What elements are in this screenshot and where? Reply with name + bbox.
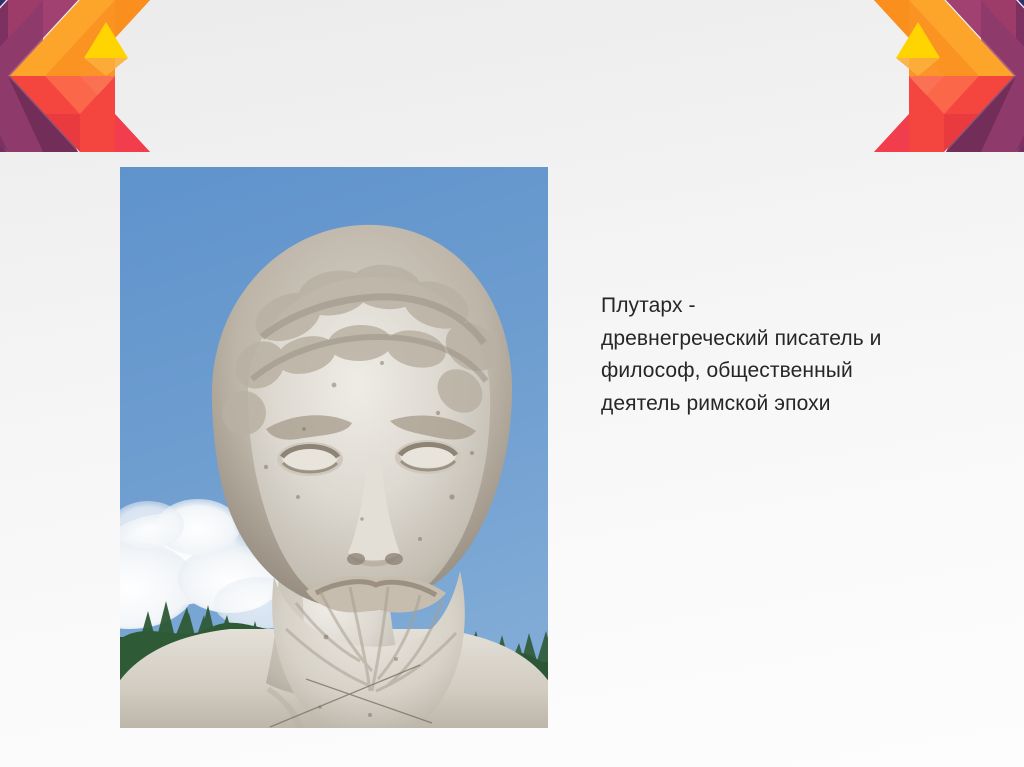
chevron-plum-icon [0, 0, 78, 152]
slide-canvas: Плутарх - древнегреческий писатель и фил… [0, 0, 1024, 767]
caption-text: Плутарх - древнегреческий писатель и фил… [601, 290, 961, 420]
chevron-left-graphic [0, 0, 196, 152]
chevron-band-right [828, 0, 1024, 152]
chevron-orange-icon [874, 0, 1014, 152]
chevron-navy-icon [1018, 0, 1024, 152]
chevron-band-left [0, 0, 196, 152]
chevron-right-graphic [828, 0, 1024, 152]
chevron-navy-icon [0, 0, 6, 152]
plutarch-bust-illustration [120, 167, 548, 728]
plutarch-bust-photo [120, 167, 548, 728]
chevron-orange-icon [10, 0, 150, 152]
chevron-plum-icon [946, 0, 1024, 152]
